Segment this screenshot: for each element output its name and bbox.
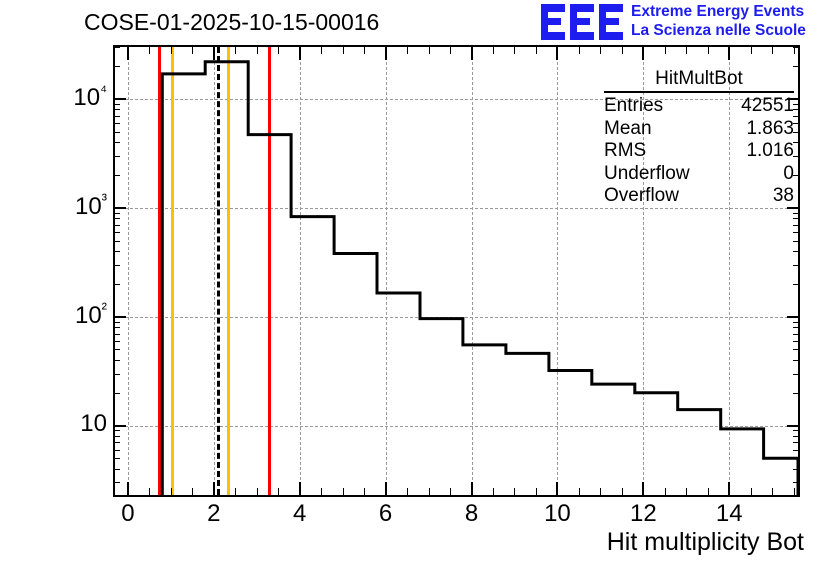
x-tick-minor [343, 488, 344, 495]
x-tick-minor-top [278, 47, 279, 54]
x-tick-major-top [556, 47, 558, 60]
y-tick-major [113, 207, 126, 209]
y-tick-minor-right [793, 341, 800, 342]
x-tick-minor [579, 488, 580, 495]
eee-logo-text: Extreme Energy Events La Scienza nelle S… [631, 2, 806, 40]
y-tick-minor-right [793, 436, 800, 437]
y-tick-minor-right [793, 132, 800, 133]
y-tick-minor [113, 142, 120, 143]
x-tick-minor [794, 488, 795, 495]
x-tick-major [213, 482, 215, 495]
x-tick-major [642, 482, 644, 495]
x-tick-minor [429, 488, 430, 495]
y-tick-label: 10⁴ [27, 83, 107, 112]
x-tick-label: 14 [699, 500, 759, 528]
eee-logo-line2: La Scienza nelle Scuole [631, 21, 806, 40]
eee-letter-3 [599, 4, 623, 40]
stats-row: Overflow38 [604, 185, 794, 208]
eee-letter-1 [541, 4, 565, 40]
y-tick-minor [113, 349, 120, 350]
y-tick-minor-right [793, 360, 800, 361]
x-tick-minor [149, 488, 150, 495]
stats-row-key: Entries [604, 95, 663, 118]
y-tick-minor [113, 66, 120, 67]
eee-letter-2 [570, 4, 594, 40]
y-tick-minor [113, 218, 120, 219]
y-tick-minor-right [793, 232, 800, 233]
x-tick-major [471, 482, 473, 495]
x-tick-minor-top [364, 47, 365, 54]
y-tick-minor [113, 104, 120, 105]
stats-row: Mean1.863 [604, 118, 794, 141]
x-tick-major-top [728, 47, 730, 60]
y-tick-minor-right [793, 458, 800, 459]
x-tick-minor [772, 488, 773, 495]
y-tick-minor [113, 156, 120, 157]
x-tick-minor-top [579, 47, 580, 54]
y-tick-minor-right [793, 142, 800, 143]
x-tick-minor-top [493, 47, 494, 54]
x-tick-label: 10 [527, 500, 587, 528]
stats-row: RMS1.016 [604, 140, 794, 163]
x-tick-major [299, 482, 301, 495]
x-tick-minor-top [321, 47, 322, 54]
x-tick-minor [686, 488, 687, 495]
stats-row: Underflow0 [604, 163, 794, 186]
x-tick-minor-top [192, 47, 193, 54]
stats-row-value: 0 [783, 163, 794, 186]
y-tick-minor [113, 469, 120, 470]
x-tick-minor-top [407, 47, 408, 54]
y-tick-minor [113, 123, 120, 124]
y-tick-minor-right [793, 225, 800, 226]
x-tick-minor-top [622, 47, 623, 54]
x-tick-minor [751, 488, 752, 495]
y-tick-minor [113, 360, 120, 361]
x-tick-label: 2 [184, 500, 244, 528]
y-tick-minor-right [793, 327, 800, 328]
y-tick-minor-right [793, 374, 800, 375]
y-tick-minor [113, 393, 120, 394]
y-tick-major-right [787, 425, 800, 427]
y-tick-minor-right [793, 175, 800, 176]
y-tick-minor [113, 175, 120, 176]
x-tick-label: 4 [270, 500, 330, 528]
x-tick-minor-top [343, 47, 344, 54]
y-tick-minor [113, 334, 120, 335]
x-tick-minor-top [450, 47, 451, 54]
x-tick-minor [364, 488, 365, 495]
y-tick-minor-right [793, 284, 800, 285]
x-tick-minor [321, 488, 322, 495]
x-tick-minor [450, 488, 451, 495]
y-tick-minor-right [793, 334, 800, 335]
y-tick-minor [113, 116, 120, 117]
y-tick-minor-right [793, 430, 800, 431]
y-tick-minor [113, 482, 120, 483]
x-tick-minor [407, 488, 408, 495]
x-tick-major-top [385, 47, 387, 60]
y-tick-minor-right [793, 109, 800, 110]
y-tick-minor [113, 450, 120, 451]
x-tick-minor-top [257, 47, 258, 54]
x-tick-minor [665, 488, 666, 495]
y-tick-major [113, 425, 126, 427]
y-tick-label: 10² [27, 301, 107, 330]
x-tick-minor-top [171, 47, 172, 54]
y-tick-major-right [787, 316, 800, 318]
eee-logo-mark [541, 4, 625, 40]
y-tick-minor-right [793, 66, 800, 67]
stats-row-key: RMS [604, 140, 646, 163]
x-tick-minor [192, 488, 193, 495]
y-axis-labels: 1010²10³10⁴ [19, 0, 107, 572]
y-tick-major [113, 98, 126, 100]
x-tick-major [728, 482, 730, 495]
eee-logo: Extreme Energy Events La Scienza nelle S… [541, 2, 835, 42]
x-tick-major-top [299, 47, 301, 60]
y-tick-minor [113, 436, 120, 437]
x-tick-label: 8 [442, 500, 502, 528]
y-tick-major [113, 316, 126, 318]
x-tick-minor [600, 488, 601, 495]
y-tick-minor-right [793, 104, 800, 105]
x-tick-minor-top [429, 47, 430, 54]
y-tick-minor [113, 341, 120, 342]
x-tick-major-top [642, 47, 644, 60]
x-axis-title: Hit multiplicity Bot [607, 528, 804, 557]
y-tick-minor [113, 213, 120, 214]
x-tick-minor-top [708, 47, 709, 54]
x-tick-major-top [471, 47, 473, 60]
stats-row-value: 1.863 [746, 118, 794, 141]
stats-rows: Entries42551Mean1.863RMS1.016Underflow0O… [604, 95, 794, 208]
y-tick-minor-right [793, 116, 800, 117]
y-tick-minor-right [793, 482, 800, 483]
x-tick-minor [278, 488, 279, 495]
x-tick-minor-top [536, 47, 537, 54]
x-tick-minor [708, 488, 709, 495]
y-tick-minor [113, 232, 120, 233]
y-tick-minor-right [793, 218, 800, 219]
x-tick-major-top [213, 47, 215, 60]
y-tick-minor-right [793, 213, 800, 214]
y-tick-minor [113, 132, 120, 133]
stats-box-title: HitMultBot [604, 68, 794, 91]
y-tick-minor [113, 327, 120, 328]
y-tick-minor-right [793, 123, 800, 124]
x-tick-minor-top [686, 47, 687, 54]
x-tick-minor-top [665, 47, 666, 54]
y-tick-minor-right [793, 442, 800, 443]
root-canvas: COSE-01-2025-10-15-00016 Extreme Energy … [0, 0, 836, 572]
x-tick-minor [257, 488, 258, 495]
y-tick-minor [113, 458, 120, 459]
x-tick-minor-top [751, 47, 752, 54]
stats-row-value: 1.016 [746, 140, 794, 163]
x-tick-minor-top [235, 47, 236, 54]
x-tick-minor [171, 488, 172, 495]
y-tick-minor-right [793, 251, 800, 252]
x-tick-minor [235, 488, 236, 495]
y-tick-minor-right [793, 393, 800, 394]
y-tick-minor [113, 430, 120, 431]
y-tick-minor [113, 47, 120, 48]
y-tick-minor-right [793, 47, 800, 48]
x-tick-minor-top [600, 47, 601, 54]
stats-row-key: Underflow [604, 163, 690, 186]
stats-row-value: 38 [773, 185, 794, 208]
y-tick-minor [113, 251, 120, 252]
y-tick-minor [113, 374, 120, 375]
x-tick-major-top [127, 47, 129, 60]
x-tick-major [556, 482, 558, 495]
y-tick-minor [113, 442, 120, 443]
y-tick-label: 10³ [27, 192, 107, 221]
stats-row-key: Mean [604, 118, 652, 141]
page-title: COSE-01-2025-10-15-00016 [84, 9, 379, 36]
stats-row: Entries42551 [604, 95, 794, 118]
x-tick-minor-top [772, 47, 773, 54]
x-tick-major [127, 482, 129, 495]
y-tick-minor [113, 284, 120, 285]
x-tick-minor [514, 488, 515, 495]
y-tick-minor [113, 322, 120, 323]
stats-box-divider [604, 91, 794, 93]
x-tick-minor-top [149, 47, 150, 54]
y-tick-minor [113, 265, 120, 266]
x-tick-label: 6 [356, 500, 416, 528]
eee-logo-line1: Extreme Energy Events [631, 2, 806, 21]
x-tick-minor [536, 488, 537, 495]
x-tick-major [385, 482, 387, 495]
y-tick-minor-right [793, 156, 800, 157]
x-tick-minor-top [794, 47, 795, 54]
y-tick-minor [113, 225, 120, 226]
x-tick-label: 12 [613, 500, 673, 528]
x-tick-minor-top [514, 47, 515, 54]
y-tick-minor-right [793, 450, 800, 451]
y-tick-minor-right [793, 349, 800, 350]
stats-row-value: 42551 [741, 95, 794, 118]
stats-box: HitMultBot Entries42551Mean1.863RMS1.016… [604, 68, 794, 208]
y-tick-minor [113, 241, 120, 242]
y-tick-minor-right [793, 469, 800, 470]
y-tick-minor [113, 109, 120, 110]
y-tick-minor-right [793, 265, 800, 266]
y-tick-minor-right [793, 241, 800, 242]
y-tick-minor-right [793, 322, 800, 323]
stats-row-key: Overflow [604, 185, 679, 208]
y-tick-label: 10 [27, 410, 107, 438]
x-tick-minor [493, 488, 494, 495]
x-tick-minor [622, 488, 623, 495]
